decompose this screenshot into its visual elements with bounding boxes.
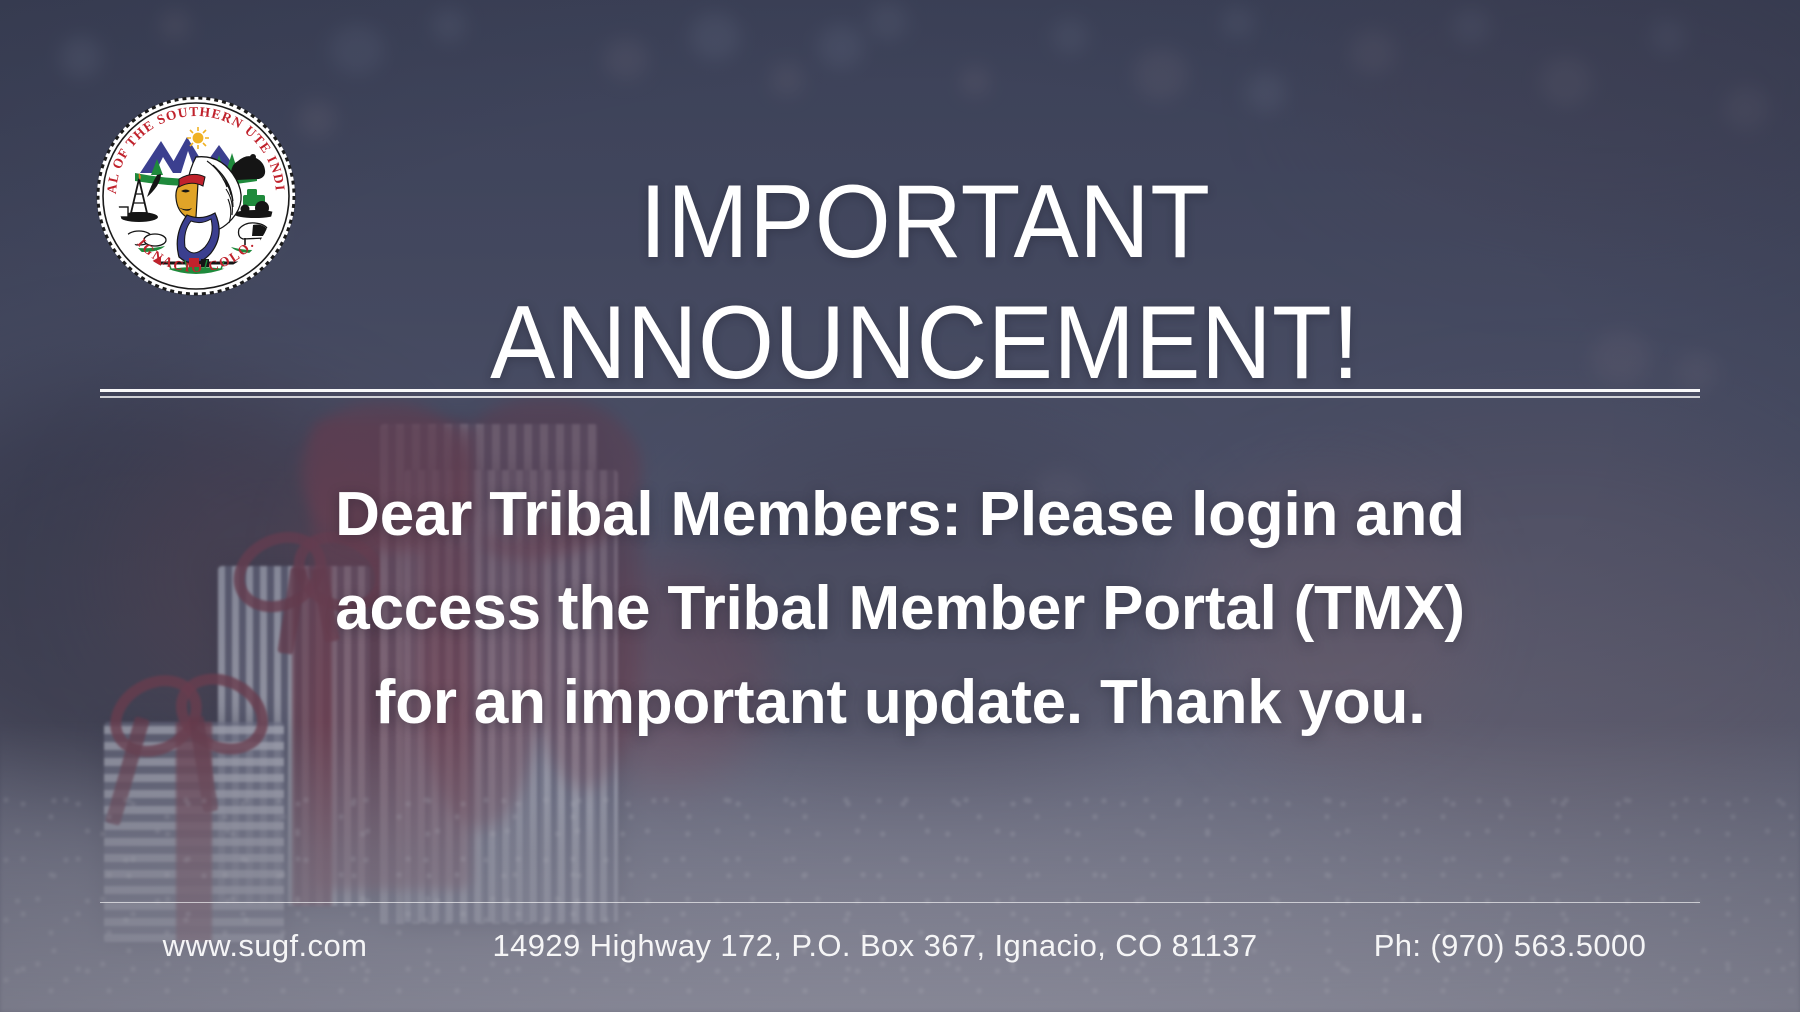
footer: www.sugf.com 14929 Highway 172, P.O. Box…	[0, 902, 1800, 1012]
title-line-1: IMPORTANT	[640, 164, 1211, 280]
message-line-3: for an important update. Thank you.	[140, 656, 1660, 750]
footer-website[interactable]: www.sugf.com	[100, 928, 430, 964]
divider-rule-top	[100, 389, 1700, 392]
message-line-1: Dear Tribal Members: Please login and	[140, 468, 1660, 562]
message-line-2: access the Tribal Member Portal (TMX)	[140, 562, 1660, 656]
divider-rule-bottom	[100, 396, 1700, 398]
poster-content: GREAT SEAL OF THE SOUTHERN UTE INDIAN TR…	[0, 0, 1800, 1012]
tribal-seal-logo: GREAT SEAL OF THE SOUTHERN UTE INDIAN TR…	[95, 95, 297, 297]
page-title: IMPORTANT ANNOUNCEMENT!	[413, 162, 1438, 405]
title-line-2: ANNOUNCEMENT!	[413, 283, 1438, 405]
footer-phone[interactable]: Ph: (970) 563.5000	[1320, 928, 1700, 964]
footer-contact-row: www.sugf.com 14929 Highway 172, P.O. Box…	[100, 928, 1700, 964]
footer-address: 14929 Highway 172, P.O. Box 367, Ignacio…	[430, 928, 1320, 964]
announcement-poster: GREAT SEAL OF THE SOUTHERN UTE INDIAN TR…	[0, 0, 1800, 1012]
title-divider	[100, 389, 1700, 398]
footer-divider	[100, 902, 1700, 903]
announcement-message: Dear Tribal Members: Please login and ac…	[140, 468, 1660, 751]
